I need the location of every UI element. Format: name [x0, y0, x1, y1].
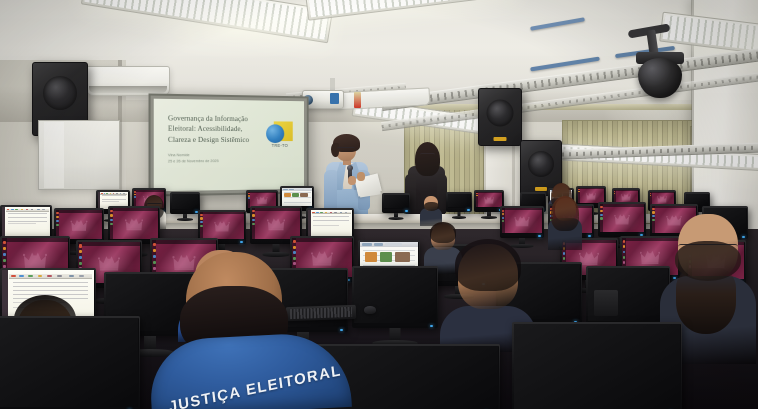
- monitor-base: [389, 217, 404, 220]
- monitor-base: [177, 218, 193, 221]
- eyeglasses-icon: [420, 153, 435, 157]
- monitor-screen: [476, 192, 502, 207]
- monitor-screen: [172, 194, 198, 209]
- monitor-screen: [448, 194, 470, 207]
- monitor-screen: [600, 204, 644, 232]
- dock-app-icon: [293, 246, 296, 249]
- dock-app-icon: [56, 216, 58, 218]
- crown-wallpaper-icon: [586, 192, 596, 200]
- desktop-topbar: [292, 238, 352, 242]
- power-led-icon: [340, 329, 343, 331]
- dock-app-icon: [614, 193, 615, 194]
- dock-app-icon: [652, 219, 654, 221]
- dock-app-icon: [563, 257, 566, 260]
- dock-app-icon: [623, 256, 626, 259]
- training-room-photo: Governança da Informação Eleitoral: Aces…: [0, 0, 758, 409]
- dock-app-icon: [134, 194, 136, 196]
- desktop-topbar: [2, 238, 68, 242]
- attendee-beard: [676, 268, 736, 334]
- crown-wallpaper-icon: [614, 213, 630, 225]
- dock-app-icon: [502, 213, 504, 215]
- crown-wallpaper-icon: [214, 220, 230, 232]
- dock-app-icon: [110, 223, 112, 225]
- attendee-hair: [424, 202, 439, 211]
- thumbnail-image: [380, 252, 393, 262]
- crown-wallpaper-icon: [515, 215, 530, 227]
- desktop-topbar: [152, 240, 216, 244]
- dock-app-icon: [252, 214, 254, 216]
- document-text-lines: [102, 201, 119, 203]
- desktop-topbar: [652, 206, 696, 208]
- monitor-base: [481, 216, 497, 219]
- dock-app-icon: [56, 224, 58, 226]
- crown-wallpaper-icon: [311, 250, 333, 267]
- logo-label: TRE-TO: [265, 143, 294, 148]
- projector-cable-box: [330, 93, 339, 104]
- crown-wallpaper-icon: [257, 196, 268, 205]
- monitor-screen: [110, 208, 158, 239]
- slide-date: 25 e 26 de Novembro de 2025: [168, 158, 262, 165]
- monitor-screen: [56, 210, 102, 239]
- desktop-topbar: [252, 208, 300, 211]
- monitor-screen: [384, 195, 408, 208]
- thumbnail-image: [365, 252, 378, 262]
- co-presenter-hair: [415, 142, 440, 176]
- dock-app-icon: [3, 253, 6, 256]
- attendee-hair: [430, 222, 456, 243]
- computer-monitor: [382, 193, 410, 213]
- dock-app-icon: [652, 211, 654, 213]
- power-led-icon: [588, 235, 591, 237]
- power-led-icon: [467, 209, 470, 211]
- desktop-dock: [652, 206, 655, 233]
- dock-app-icon: [153, 261, 156, 264]
- monitor-screen: [308, 210, 352, 238]
- eyeglasses-icon: [678, 244, 738, 257]
- desktop-topbar: [600, 204, 644, 207]
- attendee: [548, 198, 582, 250]
- monitor-screen: [514, 324, 680, 409]
- dock-app-icon: [56, 212, 58, 214]
- desktop-tower: [594, 290, 618, 316]
- dock-app-icon: [3, 247, 6, 250]
- dock-app-icon: [600, 210, 602, 212]
- document-toolbar: [312, 212, 352, 215]
- dock-app-icon: [110, 210, 112, 212]
- dock-app-icon: [153, 267, 156, 270]
- monitor-stand: [144, 336, 156, 350]
- desktop-dock: [252, 208, 255, 239]
- dock-app-icon: [293, 251, 296, 254]
- monitor-screen: [354, 268, 436, 323]
- dock-app-icon: [578, 191, 579, 192]
- pa-speaker: [478, 88, 522, 146]
- crown-wallpaper-icon: [23, 251, 47, 270]
- computer-monitor: [170, 192, 200, 214]
- projection-screen: Governança da Informação Eleitoral: Aces…: [149, 93, 309, 196]
- thumbnail-image: [292, 193, 299, 198]
- dock-app-icon: [153, 249, 156, 252]
- document-toolbar: [100, 193, 127, 195]
- monitor-stand: [273, 244, 280, 252]
- crown-wallpaper-icon: [98, 255, 120, 272]
- desktop-topbar: [614, 190, 638, 191]
- power-led-icon: [430, 325, 433, 327]
- dock-app-icon: [79, 250, 82, 253]
- whiteboard-panel: [44, 122, 64, 188]
- dock-app-icon: [252, 219, 254, 221]
- dock-app-icon: [200, 221, 202, 223]
- document-text-lines: [102, 195, 127, 200]
- crown-wallpaper-icon: [657, 195, 667, 203]
- dock-app-icon: [652, 208, 654, 210]
- slide-title: Governança da Informação Eleitoral: Aces…: [168, 114, 259, 145]
- computer-monitor: [352, 266, 438, 328]
- dock-app-icon: [134, 191, 136, 193]
- document-text-lines: [8, 223, 36, 227]
- dock-app-icon: [110, 214, 112, 216]
- dock-app-icon: [248, 193, 249, 194]
- dock-app-icon: [502, 220, 504, 222]
- eyeglasses-icon: [337, 147, 355, 152]
- crown-wallpaper-icon: [640, 249, 660, 265]
- thumbnail-image: [284, 193, 291, 198]
- crown-wallpaper-icon: [267, 217, 285, 231]
- dock-app-icon: [293, 262, 296, 265]
- desktop-dock: [110, 208, 113, 239]
- desktop-topbar: [578, 188, 604, 189]
- dock-app-icon: [563, 252, 566, 255]
- monitor-screen: [502, 208, 542, 233]
- document-text-lines: [313, 225, 339, 228]
- dock-app-icon: [153, 243, 156, 246]
- dock-app-icon: [614, 191, 615, 192]
- monitor-screen: [282, 188, 312, 206]
- attendee-hair: [551, 196, 579, 231]
- document-toolbar: [9, 274, 92, 279]
- monitor-screen: [200, 212, 244, 239]
- desktop-topbar: [110, 208, 158, 211]
- thumbnail-image: [300, 193, 308, 198]
- dock-app-icon: [502, 217, 504, 219]
- document-text-lines: [313, 216, 349, 224]
- dock-app-icon: [153, 255, 156, 258]
- dock-app-icon: [623, 240, 626, 243]
- dock-app-icon: [293, 240, 296, 243]
- microphone-head-icon: [347, 165, 353, 171]
- dock-app-icon: [600, 217, 602, 219]
- dock-app-icon: [623, 245, 626, 248]
- computer-monitor: [500, 206, 544, 238]
- dock-app-icon: [650, 193, 651, 194]
- crown-wallpaper-icon: [484, 196, 494, 204]
- dock-app-icon: [248, 195, 249, 196]
- dock-app-icon: [200, 225, 202, 227]
- computer-monitor: [0, 316, 140, 409]
- dock-app-icon: [502, 210, 504, 212]
- desktop-dock: [200, 212, 203, 239]
- presenter-hand: [348, 176, 356, 185]
- computer-monitor: [512, 322, 682, 409]
- dock-app-icon: [110, 219, 112, 221]
- desktop-dock: [600, 204, 603, 232]
- thumbnail-image: [395, 252, 410, 262]
- dock-app-icon: [248, 197, 249, 198]
- desktop-dock: [502, 208, 505, 233]
- dock-app-icon: [200, 214, 202, 216]
- dock-app-icon: [79, 244, 82, 247]
- emergency-switch-box: [354, 92, 361, 108]
- presentation-slide: Governança da Informação Eleitoral: Aces…: [154, 99, 304, 192]
- browser-toolbar: [282, 188, 312, 191]
- dock-app-icon: [578, 189, 579, 190]
- dock-app-icon: [476, 195, 477, 196]
- computer-monitor: [598, 202, 646, 237]
- light-glow: [140, 0, 340, 60]
- desktop-topbar: [502, 208, 542, 210]
- desktop-dock: [476, 192, 478, 207]
- document-toolbar: [6, 209, 49, 212]
- dock-app-icon: [293, 257, 296, 260]
- crown-wallpaper-icon: [579, 250, 599, 266]
- dock-app-icon: [79, 256, 82, 259]
- dock-app-icon: [600, 214, 602, 216]
- dock-app-icon: [134, 196, 136, 198]
- dock-app-icon: [650, 195, 651, 196]
- crown-wallpaper-icon: [621, 193, 631, 201]
- desktop-topbar: [200, 212, 244, 214]
- computer-mouse: [364, 306, 376, 314]
- desktop-dock: [56, 210, 59, 239]
- crown-wallpaper-icon: [71, 219, 88, 232]
- attendee-hair: [455, 239, 521, 291]
- browser-toolbar: [360, 242, 418, 247]
- dock-app-icon: [623, 251, 626, 254]
- desktop-topbar: [248, 192, 276, 193]
- monitor-screen: [0, 318, 138, 407]
- dock-app-icon: [476, 193, 477, 194]
- dock-app-icon: [623, 261, 626, 264]
- monitor-base: [263, 252, 290, 257]
- tre-to-logo: TRE-TO: [265, 119, 294, 153]
- dock-app-icon: [3, 259, 6, 262]
- shirt-text-justica-eleitoral: JUSTIÇA ELEITORAL: [168, 355, 375, 409]
- monitor-base: [452, 216, 466, 219]
- monitor-screen: [252, 208, 300, 239]
- dock-app-icon: [652, 215, 654, 217]
- dock-app-icon: [56, 220, 58, 222]
- crown-wallpaper-icon: [125, 217, 143, 231]
- dock-app-icon: [3, 241, 6, 244]
- document-text-lines: [8, 213, 47, 222]
- desktop-topbar: [134, 190, 164, 192]
- dock-app-icon: [252, 210, 254, 212]
- dock-app-icon: [252, 223, 254, 225]
- monitor-screen: [2, 207, 50, 238]
- dock-app-icon: [79, 262, 82, 265]
- keyboard: [286, 305, 356, 321]
- slide-subtitle: Vina Nomide 25 e 26 de Novembro de 2025: [168, 152, 262, 165]
- desktop-topbar: [56, 210, 102, 213]
- power-led-icon: [405, 210, 408, 212]
- light-glow: [690, 10, 758, 80]
- dock-app-icon: [200, 217, 202, 219]
- dock-app-icon: [600, 206, 602, 208]
- computer-monitor: [446, 192, 472, 212]
- desktop-topbar: [650, 192, 674, 193]
- presenter-hand: [357, 172, 365, 181]
- power-led-icon: [240, 241, 243, 243]
- desktop-topbar: [78, 242, 140, 246]
- power-led-icon: [538, 235, 541, 237]
- desktop-topbar: [476, 192, 502, 193]
